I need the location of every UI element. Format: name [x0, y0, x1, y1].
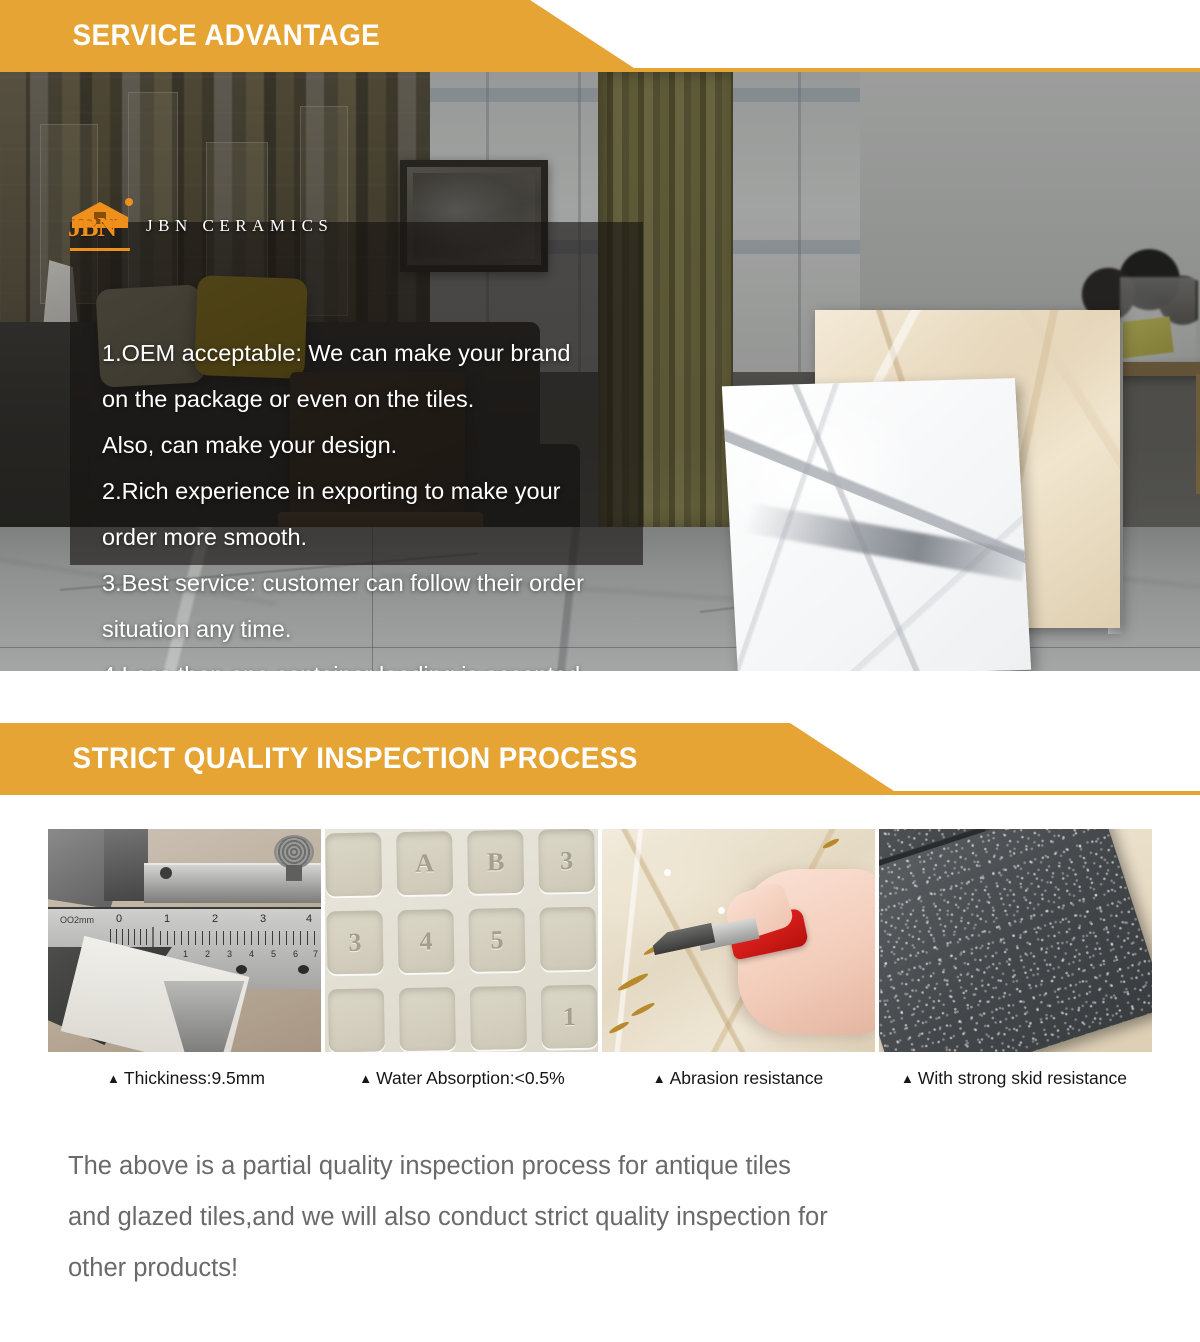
triangle-marker-icon: ▲: [901, 1071, 914, 1086]
service-bullet-line: 2.Rich experience in exporting to make y…: [102, 468, 642, 514]
caption-text: With strong skid resistance: [918, 1068, 1127, 1088]
caliper-vernier-number: 3: [227, 949, 232, 959]
tile-grid-cell: [399, 987, 456, 1051]
tile-grid-cell: [325, 832, 382, 896]
inspection-title: STRICT QUALITY INSPECTION PROCESS: [0, 742, 638, 776]
service-bullet-line: 4.Less than one container loading is acc…: [102, 652, 642, 671]
caliper-scale-number: 0: [116, 913, 122, 925]
service-advantage-copy: 1.OEM acceptable: We can make your brand…: [102, 330, 642, 671]
water-droplet: [718, 907, 725, 914]
jbn-logo: JBN JBN CERAMICS: [68, 200, 333, 252]
photo-thickness-caliper: OO2mm 0 1 2 3 4 0 1 2 3 4 5 6 7: [48, 829, 321, 1052]
service-bullet-line: on the package or even on the tiles.: [102, 376, 642, 422]
caption-text: Thickiness:9.5mm: [124, 1068, 265, 1088]
caliper-vernier-number: 2: [205, 949, 210, 959]
inspection-photo-row: OO2mm 0 1 2 3 4 0 1 2 3 4 5 6 7: [0, 829, 1200, 1052]
tile-grid-cell: B: [467, 830, 524, 894]
service-bullet-line: situation any time.: [102, 606, 642, 652]
banner-underline-rule: [0, 791, 1200, 795]
caliper-vernier-number: 7: [313, 949, 318, 959]
caption-water-absorption: ▲Water Absorption:<0.5%: [324, 1068, 600, 1089]
service-advantage-title: SERVICE ADVANTAGE: [0, 19, 380, 53]
caliper-rivet: [298, 965, 309, 974]
tile-grid-cell: 3: [326, 910, 383, 974]
caliper-hole: [160, 867, 172, 879]
tile-grid-cell: [328, 988, 385, 1052]
service-bullet-line: Also, can make your design.: [102, 422, 642, 468]
logo-underline: [70, 248, 130, 251]
caliper-screw-stem: [286, 865, 302, 881]
caliper-vernier-number: 4: [249, 949, 254, 959]
dark-tile-front: [879, 829, 1152, 1052]
caliper-upper-jaw: [104, 829, 148, 901]
caption-thickness: ▲Thickiness:9.5mm: [48, 1068, 324, 1089]
caliper-scale-number: 1: [164, 913, 170, 925]
caption-text: Water Absorption:<0.5%: [376, 1068, 565, 1088]
logo-wordmark: JBN CERAMICS: [146, 216, 333, 236]
caliper-scale-number: 3: [260, 913, 266, 925]
triangle-marker-icon: ▲: [107, 1071, 120, 1086]
caliper-vernier-ticks: [160, 931, 318, 945]
service-bullet-line: order more smooth.: [102, 514, 642, 560]
service-advantage-banner: SERVICE ADVANTAGE: [0, 0, 1200, 72]
photo-abrasion-resistance: [602, 829, 875, 1052]
product-detail-page: SERVICE ADVANTAGE: [0, 0, 1200, 1342]
caliper-thumb-screw: [274, 835, 314, 869]
footer-note-line: and glazed tiles,and we will also conduc…: [68, 1192, 1088, 1243]
jbn-logo-mark: JBN: [68, 200, 132, 252]
inspection-banner-wrap: STRICT QUALITY INSPECTION PROCESS: [0, 723, 1200, 795]
logo-monogram: JBN: [68, 214, 132, 241]
tile-grid-cell: [539, 907, 596, 971]
tile-back-grid: A B 3 3 4 5 1: [325, 829, 598, 1052]
inspection-banner: STRICT QUALITY INSPECTION PROCESS: [0, 723, 1200, 795]
caliper-rivet: [236, 965, 247, 974]
tile-grid-cell: A: [396, 831, 453, 895]
service-advantage-banner-wrap: SERVICE ADVANTAGE: [0, 0, 1200, 72]
inspection-captions: ▲Thickiness:9.5mm ▲Water Absorption:<0.5…: [0, 1068, 1200, 1089]
triangle-marker-icon: ▲: [653, 1071, 666, 1086]
service-advantage-hero: JBN JBN CERAMICS 1.OEM acceptable: We ca…: [0, 72, 1200, 671]
service-bullet-line: 1.OEM acceptable: We can make your brand: [102, 330, 642, 376]
tile-grid-cell: 4: [397, 909, 454, 973]
inspection-footer-note: The above is a partial quality inspectio…: [68, 1141, 1088, 1294]
service-bullet-line: 3.Best service: customer can follow thei…: [102, 560, 642, 606]
caption-abrasion: ▲Abrasion resistance: [600, 1068, 876, 1089]
tile-grid-cell: 3: [538, 829, 595, 893]
tile-grid-cell: [470, 986, 527, 1050]
tile-grid-cell: 5: [468, 908, 525, 972]
caliper-scale-number: 2: [212, 913, 218, 925]
section-gap: [0, 671, 1200, 723]
caliper-vernier-number: 5: [271, 949, 276, 959]
caliper-vernier-number: 1: [183, 949, 188, 959]
caliper-vernier-number: 6: [293, 949, 298, 959]
caption-text: Abrasion resistance: [670, 1068, 824, 1088]
photo-skid-resistance: [879, 829, 1152, 1052]
caption-skid: ▲With strong skid resistance: [876, 1068, 1152, 1089]
tile-grid-cell: 1: [541, 985, 598, 1049]
logo-dot-icon: [125, 198, 133, 206]
caliper-brand-mark: OO2mm: [60, 915, 94, 925]
caliper-scale-number: 4: [306, 913, 312, 925]
white-marble-tile-sample: [722, 378, 1031, 671]
footer-note-line: The above is a partial quality inspectio…: [68, 1141, 1088, 1192]
water-droplet: [664, 869, 671, 876]
triangle-marker-icon: ▲: [359, 1071, 372, 1086]
photo-water-absorption: A B 3 3 4 5 1: [325, 829, 598, 1052]
footer-note-line: other products!: [68, 1243, 1088, 1294]
